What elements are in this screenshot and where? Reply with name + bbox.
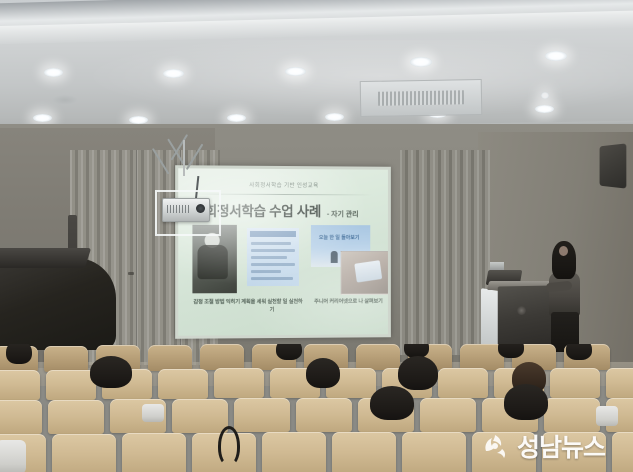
seat[interactable]: [402, 432, 466, 472]
lectern-knob-icon: [517, 306, 526, 315]
tablet-screen: [354, 260, 382, 282]
seated-figure: [197, 245, 227, 279]
audience-head: [276, 344, 302, 360]
slide-caption: 계획을 세워 실천할 일 실천하기: [241, 299, 303, 314]
audience-head: [90, 356, 132, 388]
worksheet-header: [250, 231, 296, 237]
audience-head: [370, 386, 414, 420]
seat[interactable]: [606, 368, 633, 398]
piano-lid: [0, 248, 91, 268]
seat[interactable]: [44, 346, 88, 372]
slide-kicker: 사회정서학습 기반 인성교육: [178, 180, 388, 189]
seat[interactable]: [46, 370, 96, 400]
seat[interactable]: [438, 368, 488, 398]
hvac-vent: [360, 79, 483, 117]
ceiling-projector: [162, 198, 210, 222]
grand-piano: [0, 258, 116, 350]
ceiling-fitting-icon: [52, 95, 78, 105]
partition-seam: [136, 150, 137, 365]
wall-speaker-icon: [600, 143, 627, 188]
downlight: [33, 114, 52, 122]
hvac-vent-grill: [378, 90, 465, 106]
seat[interactable]: [0, 370, 40, 400]
downlight: [545, 51, 567, 61]
bag-strap: [218, 426, 240, 466]
ceiling: [0, 0, 633, 138]
planner-worksheet-screenshot: [247, 228, 299, 286]
audience-head: [566, 344, 592, 360]
downlight: [410, 57, 432, 67]
seat[interactable]: [158, 369, 208, 399]
seat[interactable]: [48, 400, 104, 434]
downlight: [129, 116, 148, 124]
worksheet-line: [251, 270, 281, 273]
downlight: [44, 68, 63, 77]
projector-scissor-mount: [168, 138, 202, 178]
folding-partition-right: [400, 150, 490, 355]
watermark: 성남뉴스: [478, 424, 628, 468]
seat[interactable]: [296, 398, 352, 432]
worksheet-line: [251, 249, 295, 252]
seat[interactable]: [356, 344, 400, 370]
seat[interactable]: [262, 432, 326, 472]
downlight: [325, 113, 344, 121]
seat[interactable]: [148, 345, 192, 371]
seat[interactable]: [0, 400, 42, 434]
audience-head: [504, 384, 548, 420]
seat[interactable]: [122, 433, 186, 472]
audience-head: [306, 358, 340, 388]
illustration-caption: 오늘 한 일 돌아보기: [319, 234, 360, 241]
seat[interactable]: [214, 368, 264, 398]
audience-head: [398, 356, 438, 390]
projector-vents: [167, 205, 189, 213]
worksheet-line: [251, 263, 295, 266]
audience-head: [498, 344, 524, 358]
slide-divider: [194, 194, 372, 196]
lectern: [498, 285, 553, 348]
seat[interactable]: [52, 434, 116, 472]
downlight: [227, 114, 246, 122]
slide-caption: 주니어 커리어넷으로 나 살펴보기: [309, 299, 388, 307]
illustration-figure: [331, 251, 338, 263]
slide-caption: 감정 조절 방법 익히기: [188, 299, 245, 307]
auditorium-lecture-photo: 사회정서학습 기반 인성교육 사회정서학습 수업 사례 - 자기 관리: [0, 0, 633, 472]
slide-captions: 감정 조절 방법 익히기 계획을 세워 실천할 일 실천하기 주니어 커리어넷으…: [188, 299, 382, 330]
seat[interactable]: [172, 399, 228, 433]
tablet-in-hands-photo: [341, 251, 388, 295]
audience-shoulder: [0, 440, 26, 472]
slide-subtitle: - 자기 관리: [327, 209, 359, 219]
downlight: [285, 67, 306, 76]
worksheet-line: [251, 277, 293, 280]
seat[interactable]: [234, 398, 290, 432]
downlight: [541, 92, 549, 99]
projector-lens-icon: [196, 204, 205, 213]
watermark-text: 성남뉴스: [517, 428, 605, 464]
seat[interactable]: [420, 398, 476, 432]
audience-shoulder: [142, 404, 164, 422]
seat[interactable]: [200, 344, 244, 370]
audience-head: [6, 344, 32, 364]
seat[interactable]: [332, 432, 396, 472]
seongnam-news-logo: [478, 429, 512, 463]
partition-handle[interactable]: [128, 272, 134, 275]
projector-drop-pole: [183, 140, 185, 176]
downlight: [163, 69, 184, 78]
audience-shoulder: [596, 406, 618, 426]
presenter-face: [559, 246, 568, 256]
ceiling-light-sheen: [0, 40, 633, 130]
worksheet-line: [251, 256, 287, 259]
worksheet-line: [251, 242, 291, 245]
downlight: [535, 105, 554, 113]
seat[interactable]: [550, 368, 600, 398]
